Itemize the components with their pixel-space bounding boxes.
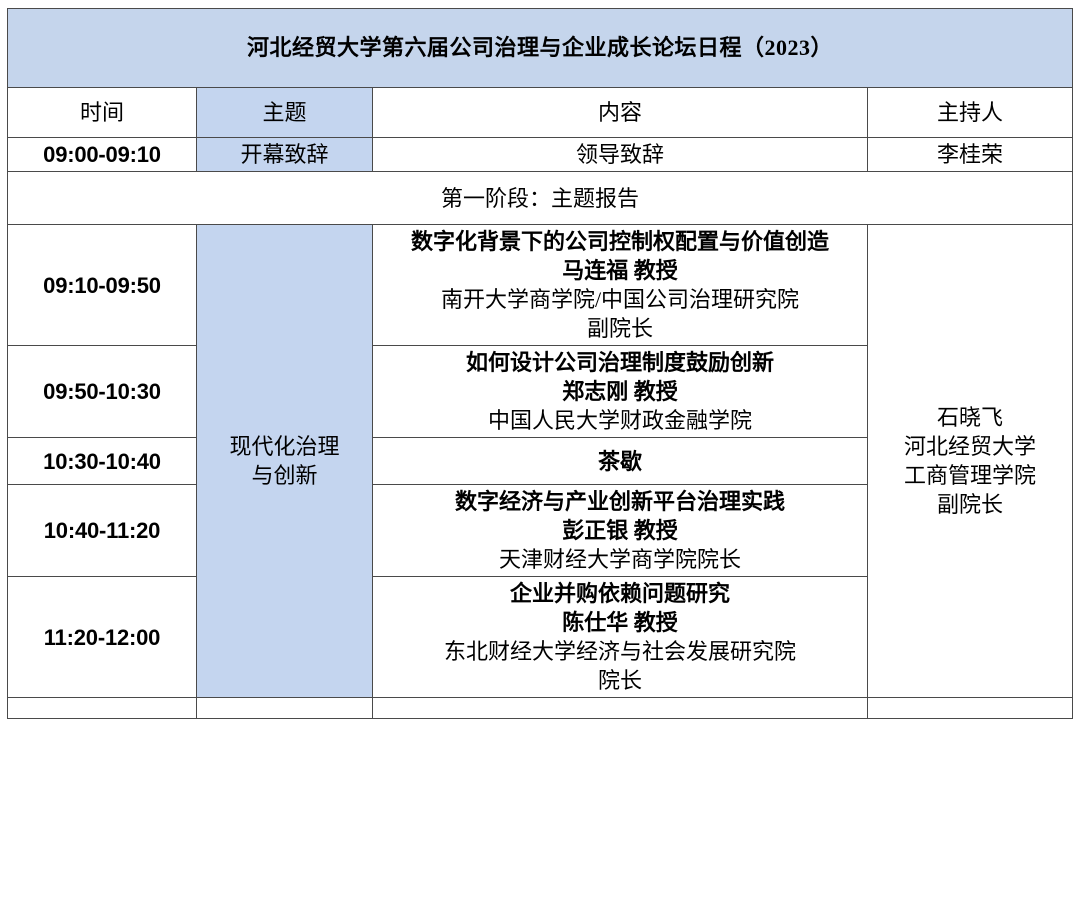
- clipped-cell-content: [373, 698, 868, 719]
- break-time: 10:30-10:40: [8, 438, 197, 485]
- opening-host: 李桂荣: [868, 138, 1073, 172]
- session-1-title: 数字化背景下的公司控制权配置与价值创造: [377, 227, 863, 256]
- table-row-opening: 09:00-09:10 开幕致辞 领导致辞 李桂荣: [8, 138, 1073, 172]
- stage-one-host-line-3: 工商管理学院: [872, 461, 1068, 490]
- table-row-title: 河北经贸大学第六届公司治理与企业成长论坛日程（2023）: [8, 9, 1073, 88]
- table-row-header: 时间 主题 内容 主持人: [8, 88, 1073, 138]
- session-2-speaker: 郑志刚 教授: [377, 377, 863, 406]
- column-header-content: 内容: [373, 88, 868, 138]
- session-2-time: 09:50-10:30: [8, 346, 197, 438]
- opening-time: 09:00-09:10: [8, 138, 197, 172]
- stage-one-host-line-1: 石晓飞: [872, 403, 1068, 432]
- table-row-clipped-bottom: [8, 698, 1073, 719]
- stage-one-host-line-2: 河北经贸大学: [872, 432, 1068, 461]
- session-4-content: 企业并购依赖问题研究 陈仕华 教授 东北财经大学经济与社会发展研究院 院长: [373, 577, 868, 698]
- session-2-title: 如何设计公司治理制度鼓励创新: [377, 348, 863, 377]
- document-title: 河北经贸大学第六届公司治理与企业成长论坛日程（2023）: [8, 9, 1073, 88]
- session-3-affiliation-1: 天津财经大学商学院院长: [377, 545, 863, 574]
- session-3-content: 数字经济与产业创新平台治理实践 彭正银 教授 天津财经大学商学院院长: [373, 485, 868, 577]
- session-3-speaker: 彭正银 教授: [377, 516, 863, 545]
- table-row-stage-divider: 第一阶段：主题报告: [8, 172, 1073, 225]
- opening-theme: 开幕致辞: [197, 138, 373, 172]
- forum-schedule-table: 河北经贸大学第六届公司治理与企业成长论坛日程（2023） 时间 主题 内容 主持…: [7, 8, 1073, 719]
- session-1-speaker: 马连福 教授: [377, 256, 863, 285]
- stage-one-theme-line-1: 现代化治理: [229, 434, 339, 459]
- session-1-content: 数字化背景下的公司控制权配置与价值创造 马连福 教授 南开大学商学院/中国公司治…: [373, 225, 868, 346]
- clipped-cell-host: [868, 698, 1073, 719]
- session-2-affiliation-1: 中国人民大学财政金融学院: [377, 406, 863, 435]
- session-4-title: 企业并购依赖问题研究: [377, 579, 863, 608]
- session-4-affiliation-1: 东北财经大学经济与社会发展研究院: [377, 637, 863, 666]
- session-3-time: 10:40-11:20: [8, 485, 197, 577]
- session-4-affiliation-2: 院长: [377, 666, 863, 695]
- column-header-theme: 主题: [197, 88, 373, 138]
- session-1-affiliation-2: 副院长: [377, 314, 863, 343]
- session-4-speaker: 陈仕华 教授: [377, 608, 863, 637]
- stage-one-host-line-4: 副院长: [872, 490, 1068, 519]
- session-1-affiliation-1: 南开大学商学院/中国公司治理研究院: [377, 285, 863, 314]
- session-3-title: 数字经济与产业创新平台治理实践: [377, 487, 863, 516]
- clipped-cell-theme: [197, 698, 373, 719]
- schedule-document: 河北经贸大学第六届公司治理与企业成长论坛日程（2023） 时间 主题 内容 主持…: [7, 8, 1072, 719]
- stage-divider-label: 第一阶段：主题报告: [8, 172, 1073, 225]
- column-header-host: 主持人: [868, 88, 1073, 138]
- session-1-time: 09:10-09:50: [8, 225, 197, 346]
- stage-one-host: 石晓飞 河北经贸大学 工商管理学院 副院长: [868, 225, 1073, 698]
- opening-content: 领导致辞: [373, 138, 868, 172]
- session-2-content: 如何设计公司治理制度鼓励创新 郑志刚 教授 中国人民大学财政金融学院: [373, 346, 868, 438]
- session-4-time: 11:20-12:00: [8, 577, 197, 698]
- stage-one-theme-line-2: 与创新: [251, 463, 317, 488]
- table-row-session-1: 09:10-09:50 现代化治理 与创新 数字化背景下的公司控制权配置与价值创…: [8, 225, 1073, 346]
- column-header-time: 时间: [8, 88, 197, 138]
- break-label: 茶歇: [373, 438, 868, 485]
- stage-one-theme: 现代化治理 与创新: [197, 225, 373, 698]
- clipped-cell-time: [8, 698, 197, 719]
